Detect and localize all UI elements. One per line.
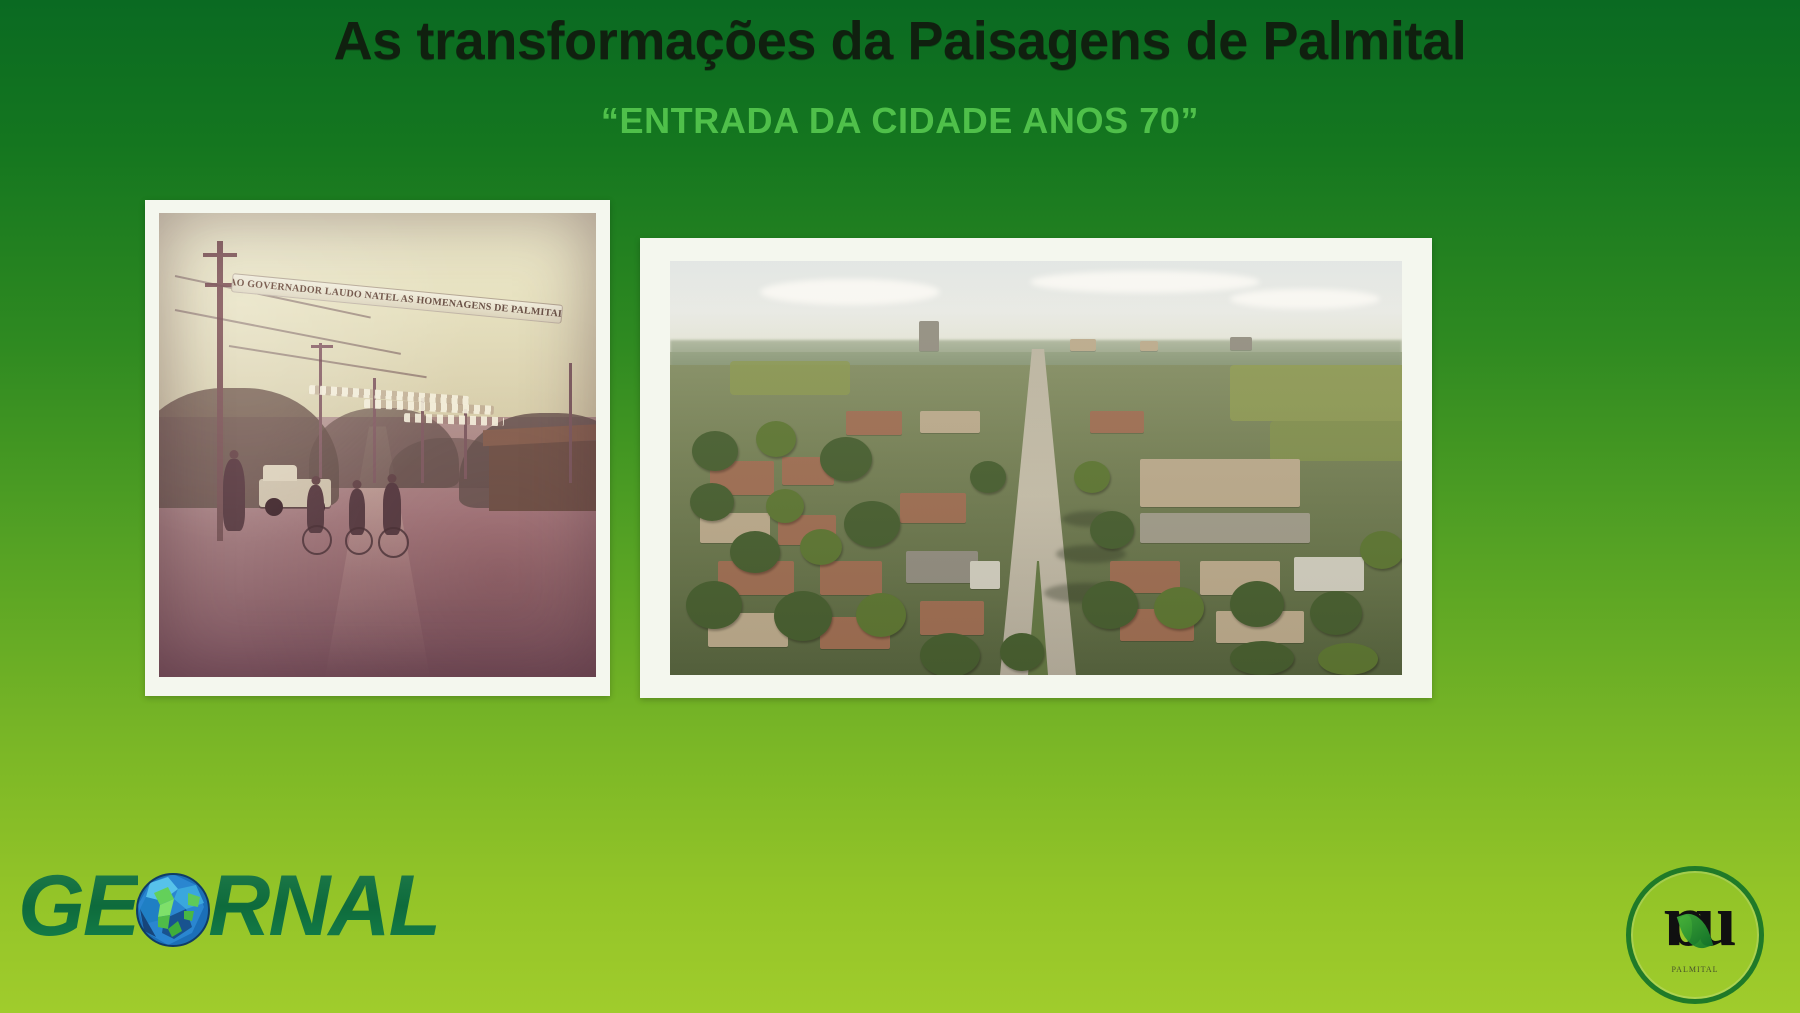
historic-pedestrian-1 bbox=[223, 459, 245, 531]
aerial-tree bbox=[1310, 591, 1362, 635]
historic-bicycle-1 bbox=[302, 525, 332, 555]
aerial-tree bbox=[1000, 633, 1044, 671]
circular-brand-logo[interactable]: ɒu PALMITAL bbox=[1626, 866, 1764, 1004]
aerial-tree bbox=[970, 461, 1006, 493]
aerial-tree bbox=[1074, 461, 1110, 493]
aerial-commercial-building bbox=[1140, 459, 1300, 507]
aerial-tree bbox=[1318, 643, 1378, 675]
aerial-parking-lot bbox=[1140, 513, 1310, 543]
geornal-text-before: GE bbox=[18, 863, 138, 949]
presentation-slide: As transformações da Paisagens de Palmit… bbox=[0, 0, 1800, 1013]
historic-cyclist-1-head bbox=[311, 476, 320, 485]
aerial-cloud-1 bbox=[760, 279, 940, 305]
aerial-tree bbox=[686, 581, 742, 629]
photo-aerial-vista-atual bbox=[670, 261, 1402, 675]
aerial-far-building-3 bbox=[1230, 337, 1252, 350]
aerial-house-block bbox=[1294, 557, 1364, 591]
aerial-house-block bbox=[900, 493, 966, 523]
historic-shed bbox=[489, 441, 596, 511]
aerial-cloud-3 bbox=[1230, 289, 1380, 309]
aerial-tree bbox=[1230, 641, 1294, 675]
aerial-house-block bbox=[920, 601, 984, 635]
aerial-tower-building bbox=[919, 321, 939, 351]
photo-frame-aerial bbox=[640, 238, 1432, 698]
aerial-tree bbox=[800, 529, 842, 565]
aerial-tree bbox=[920, 633, 980, 675]
aerial-field-right-1 bbox=[1230, 365, 1402, 421]
geornal-text-after: RNAL bbox=[208, 863, 439, 949]
photo-historic-entrada-anos-70: AO GOVERNADOR LAUDO NATEL AS HOMENAGENS … bbox=[159, 213, 596, 677]
aerial-field-right-2 bbox=[1270, 421, 1402, 461]
aerial-house-block bbox=[846, 411, 902, 435]
aerial-tree bbox=[692, 431, 738, 471]
aerial-tree bbox=[756, 421, 796, 457]
aerial-house-block bbox=[1090, 411, 1144, 433]
aerial-tree bbox=[1082, 581, 1138, 629]
aerial-tree bbox=[690, 483, 734, 521]
aerial-tree bbox=[1230, 581, 1284, 627]
photo-frame-historic: AO GOVERNADOR LAUDO NATEL AS HOMENAGENS … bbox=[145, 200, 610, 696]
aerial-tree bbox=[1154, 587, 1204, 629]
historic-cyclist-2-head bbox=[353, 480, 362, 489]
historic-truck-wheel-front bbox=[265, 498, 283, 516]
aerial-field-left-1 bbox=[730, 361, 850, 395]
geornal-logo[interactable]: GE RNAL bbox=[18, 858, 439, 954]
aerial-house-block bbox=[820, 561, 882, 595]
historic-cyclist-3-head bbox=[388, 474, 397, 483]
aerial-tree bbox=[844, 501, 900, 547]
aerial-tree bbox=[820, 437, 872, 481]
historic-pedestrian-1-head bbox=[230, 450, 239, 459]
aerial-house-block bbox=[920, 411, 980, 433]
historic-truck-cab bbox=[263, 465, 297, 481]
historic-pole-crossarm-3 bbox=[311, 345, 333, 348]
logo-sublabel: PALMITAL bbox=[1626, 965, 1764, 974]
historic-utility-pole-2 bbox=[319, 343, 322, 478]
historic-bicycle-3 bbox=[378, 527, 409, 558]
aerial-far-building-1 bbox=[1070, 339, 1096, 351]
globe-icon bbox=[134, 871, 212, 949]
aerial-tree bbox=[766, 489, 804, 523]
historic-pole-crossarm-1 bbox=[203, 253, 237, 257]
historic-bicycle-2 bbox=[345, 527, 373, 555]
historic-utility-pole-6 bbox=[569, 363, 572, 483]
aerial-tree bbox=[1360, 531, 1402, 569]
aerial-tree bbox=[730, 531, 780, 573]
aerial-far-building-2 bbox=[1140, 341, 1158, 351]
aerial-tree bbox=[856, 593, 906, 637]
aerial-house-block bbox=[970, 561, 1000, 589]
aerial-house-block bbox=[906, 551, 978, 583]
aerial-cloud-2 bbox=[1030, 271, 1260, 293]
aerial-tree bbox=[1090, 511, 1134, 549]
aerial-tree bbox=[774, 591, 832, 641]
page-title: As transformações da Paisagens de Palmit… bbox=[0, 12, 1800, 71]
page-subtitle: “ENTRADA DA CIDADE ANOS 70” bbox=[0, 100, 1800, 142]
